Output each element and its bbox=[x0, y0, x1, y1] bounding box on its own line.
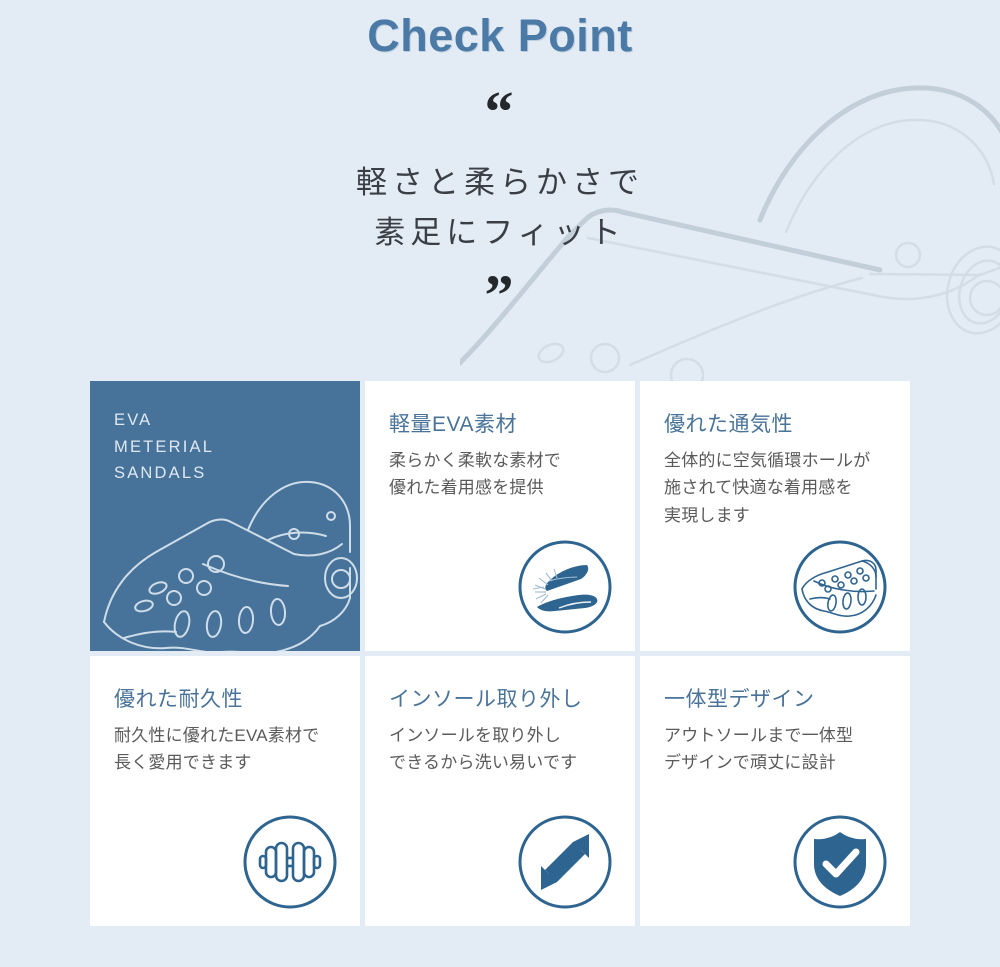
hero-label-line-2: METERIAL bbox=[114, 434, 360, 461]
feature-card-durability[interactable]: 優れた耐久性 耐久性に優れたEVA素材で 長く愛用できます bbox=[90, 656, 360, 926]
feature-grid: EVA METERIAL SANDALS bbox=[90, 381, 910, 926]
card-body-line-2: デザインで頑丈に設計 bbox=[664, 749, 886, 776]
card-body-line-2: できるから洗い易いです bbox=[389, 749, 611, 776]
double-arrow-diagonal-icon bbox=[515, 812, 615, 912]
dumbbell-icon bbox=[240, 812, 340, 912]
feather-in-hand-icon bbox=[515, 537, 615, 637]
hero-label-line-1: EVA bbox=[114, 407, 360, 434]
page-title: Check Point bbox=[0, 0, 1000, 62]
card-body-line-1: 全体的に空気循環ホールが bbox=[664, 447, 886, 474]
feature-card-lightweight[interactable]: 軽量EVA素材 柔らかく柔軟な素材で 優れた着用感を提供 bbox=[365, 381, 635, 651]
card-title: 一体型デザイン bbox=[664, 686, 886, 713]
quote-line-2: 素足にフィット bbox=[0, 208, 1000, 258]
card-body-line-2: 優れた着用感を提供 bbox=[389, 474, 611, 501]
quote-open-mark: “ bbox=[0, 96, 1000, 128]
feature-card-hero[interactable]: EVA METERIAL SANDALS bbox=[90, 381, 360, 651]
card-body-line-2: 長く愛用できます bbox=[114, 749, 336, 776]
shield-check-icon bbox=[790, 812, 890, 912]
card-body-line-1: インソールを取り外し bbox=[389, 722, 611, 749]
hero-label-line-3: SANDALS bbox=[114, 460, 360, 487]
card-body-line-1: アウトソールまで一体型 bbox=[664, 722, 886, 749]
card-body-line-2: 施されて快適な着用感を bbox=[664, 474, 886, 501]
card-title: 優れた通気性 bbox=[664, 411, 886, 438]
sandal-line-art-icon bbox=[98, 472, 360, 651]
card-body-line-1: 柔らかく柔軟な素材で bbox=[389, 447, 611, 474]
quote-block: “ 軽さと柔らかさで 素足にフィット ” bbox=[0, 96, 1000, 312]
feature-card-removable-insole[interactable]: インソール取り外し インソールを取り外し できるから洗い易いです bbox=[365, 656, 635, 926]
feature-card-unified-design[interactable]: 一体型デザイン アウトソールまで一体型 デザインで頑丈に設計 bbox=[640, 656, 910, 926]
card-title: インソール取り外し bbox=[389, 686, 611, 713]
card-title: 優れた耐久性 bbox=[114, 686, 336, 713]
feature-card-breathability[interactable]: 優れた通気性 全体的に空気循環ホールが 施されて快適な着用感を 実現します bbox=[640, 381, 910, 651]
card-title: 軽量EVA素材 bbox=[389, 411, 611, 438]
ventilated-sandal-icon bbox=[790, 537, 890, 637]
quote-line-1: 軽さと柔らかさで bbox=[0, 158, 1000, 208]
card-body-line-1: 耐久性に優れたEVA素材で bbox=[114, 722, 336, 749]
quote-close-mark: ” bbox=[0, 280, 1000, 312]
card-body-line-3: 実現します bbox=[664, 502, 886, 529]
